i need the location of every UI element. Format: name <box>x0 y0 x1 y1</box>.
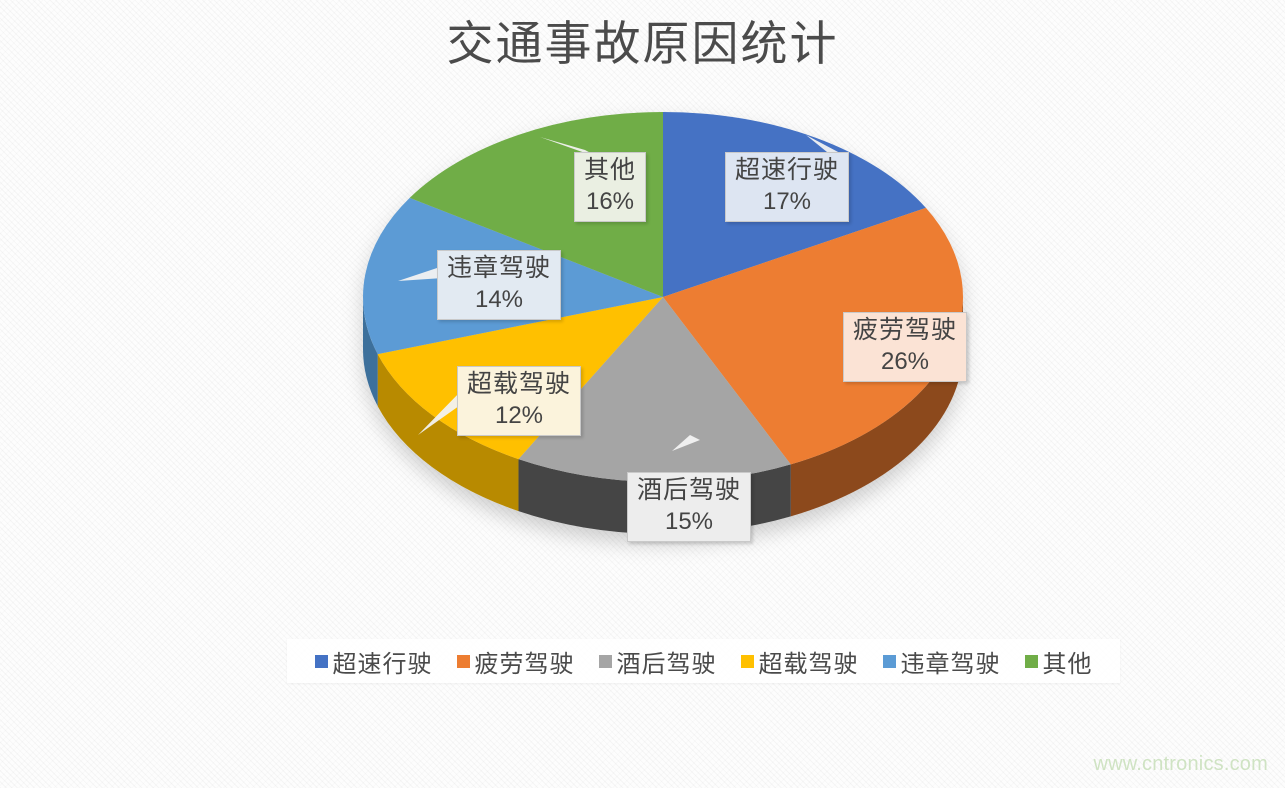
legend-item-5[interactable]: 其他 <box>1025 644 1093 679</box>
data-label-name: 酒后驾驶 <box>637 478 741 503</box>
watermark-text: www.cntronics.com <box>1093 753 1268 776</box>
legend-label: 违章驾驶 <box>901 644 1001 679</box>
data-label-name: 超载驾驶 <box>467 372 571 397</box>
data-label-name: 超速行驶 <box>735 158 839 183</box>
legend-label: 疲劳驾驶 <box>475 644 575 679</box>
legend-label: 超速行驶 <box>333 644 433 679</box>
legend-swatch-icon <box>315 655 328 668</box>
legend-item-3[interactable]: 超载驾驶 <box>741 644 859 679</box>
data-label-value: 15% <box>637 510 741 534</box>
page-title: 交通事故原因统计 <box>0 14 1285 74</box>
legend-label: 其他 <box>1043 644 1093 679</box>
data-label-qita[interactable]: 其他 16% <box>574 152 646 222</box>
legend-item-4[interactable]: 违章驾驶 <box>883 644 1001 679</box>
legend-label: 超载驾驶 <box>759 644 859 679</box>
data-label-pilao[interactable]: 疲劳驾驶 26% <box>843 312 967 382</box>
data-label-value: 16% <box>584 190 636 214</box>
legend-item-2[interactable]: 酒后驾驶 <box>599 644 717 679</box>
data-label-jiuhou[interactable]: 酒后驾驶 15% <box>627 472 751 542</box>
data-label-name: 疲劳驾驶 <box>853 318 957 343</box>
legend-label: 酒后驾驶 <box>617 644 717 679</box>
data-label-value: 14% <box>447 288 551 312</box>
data-label-value: 26% <box>853 350 957 374</box>
data-label-chaosu[interactable]: 超速行驶 17% <box>725 152 849 222</box>
data-label-value: 17% <box>735 190 839 214</box>
data-label-value: 12% <box>467 404 571 428</box>
data-label-name: 违章驾驶 <box>447 256 551 281</box>
data-label-weizhang[interactable]: 违章驾驶 14% <box>437 250 561 320</box>
legend-swatch-icon <box>457 655 470 668</box>
data-label-name: 其他 <box>584 158 636 183</box>
legend-swatch-icon <box>1025 655 1038 668</box>
legend-item-0[interactable]: 超速行驶 <box>315 644 433 679</box>
chart-legend[interactable]: 超速行驶疲劳驾驶酒后驾驶超载驾驶违章驾驶其他 <box>287 639 1120 683</box>
legend-swatch-icon <box>741 655 754 668</box>
chart-slide: 交通事故原因统计 超速行驶 17% 疲劳驾驶 26% 酒后驾驶 15% 超载驾驶 <box>0 0 1285 788</box>
legend-item-1[interactable]: 疲劳驾驶 <box>457 644 575 679</box>
data-label-chaozai[interactable]: 超载驾驶 12% <box>457 366 581 436</box>
legend-swatch-icon <box>599 655 612 668</box>
legend-swatch-icon <box>883 655 896 668</box>
